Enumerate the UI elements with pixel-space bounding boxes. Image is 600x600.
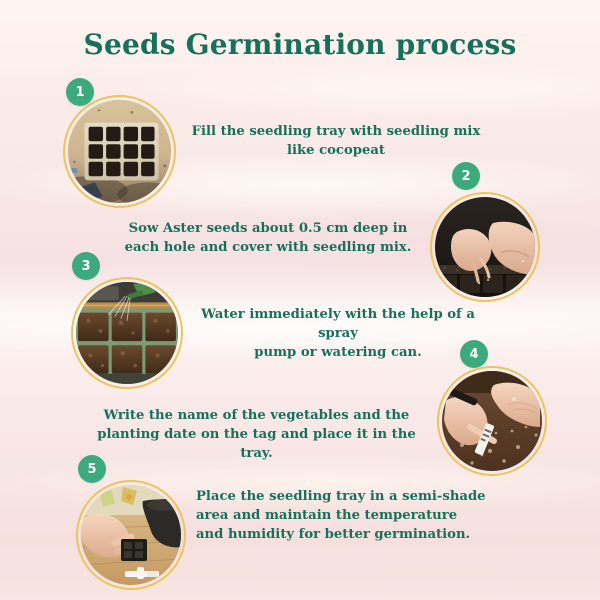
hands-sowing-seeds-photo: [435, 197, 535, 297]
step-1-text: Fill the seedling tray with seedling mix…: [176, 122, 496, 160]
step-1-image: [63, 95, 176, 208]
step-1-badge: 1: [66, 78, 94, 106]
step-2-image: [430, 192, 540, 302]
page-title: Seeds Germination process: [0, 28, 600, 61]
step-3-text: Water immediately with the help of a spr…: [184, 305, 492, 362]
infographic-canvas: Seeds Germination process: [0, 0, 600, 600]
step-2-badge: 2: [452, 162, 480, 190]
step-2-text: Sow Aster seeds about 0.5 cm deep in eac…: [113, 219, 423, 257]
background-wash: [120, 60, 600, 120]
step-4-image: [437, 366, 547, 476]
watering-seedling-tray-photo: [76, 282, 178, 384]
step-5-text: Place the seedling tray in a semi-shade …: [196, 487, 496, 544]
step-5-badge: 5: [78, 455, 106, 483]
placing-tray-semi-shade-photo: [81, 485, 181, 585]
step-4-badge: 4: [460, 340, 488, 368]
step-3-badge: 3: [72, 252, 100, 280]
writing-plant-label-photo: [442, 371, 542, 471]
step-5-image: [76, 480, 186, 590]
step-4-text: Write the name of the vegetables and the…: [90, 406, 423, 463]
seedling-tray-with-cocopeat-photo: [68, 100, 171, 203]
step-3-image: [71, 277, 183, 389]
